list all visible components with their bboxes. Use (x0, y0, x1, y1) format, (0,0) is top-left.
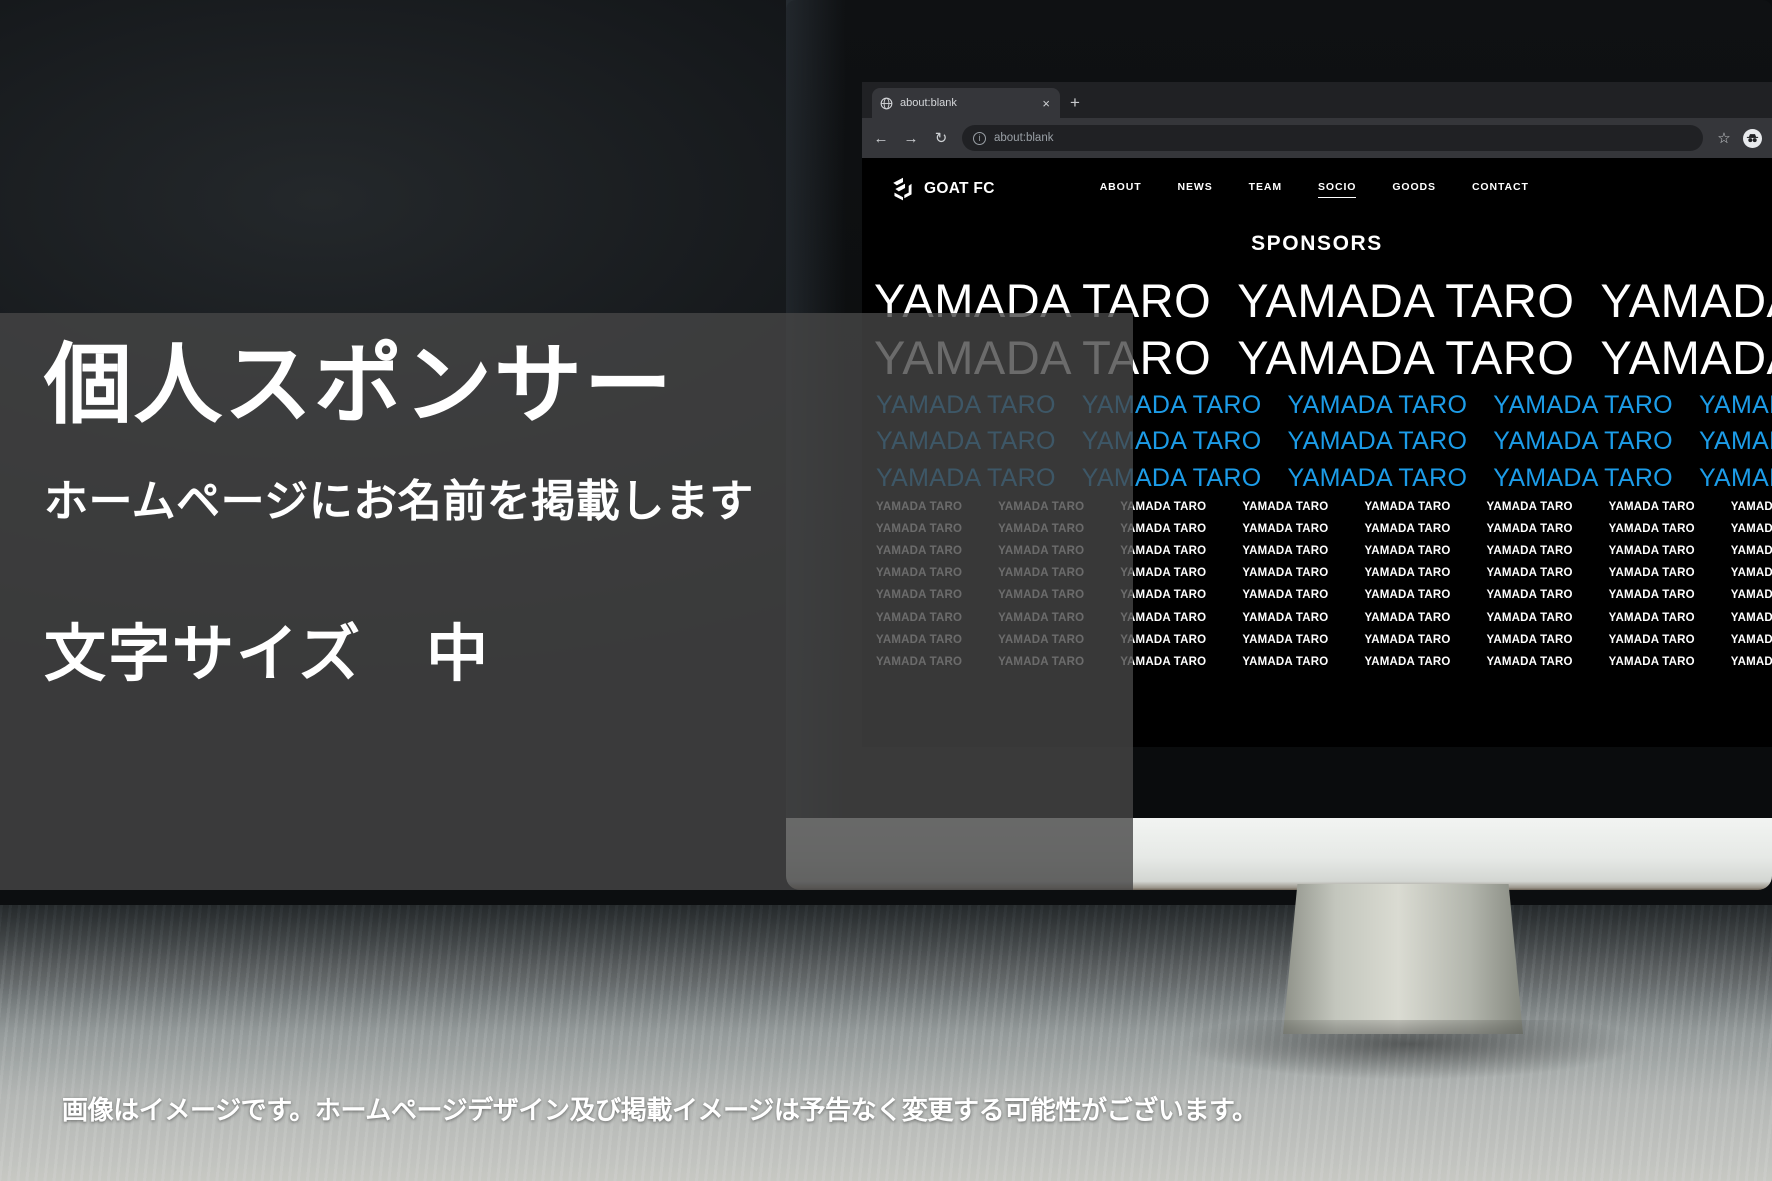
close-icon[interactable]: × (1040, 97, 1052, 110)
promo-subtitle: ホームページにお名前を掲載します (44, 465, 754, 529)
sponsor-name: YAMADA TARO (1609, 518, 1695, 540)
sponsor-name: YAMADA TARO (1493, 460, 1673, 497)
brand-logo[interactable]: GOAT FC (890, 176, 995, 202)
disclaimer-text: 画像はイメージです。ホームページデザイン及び掲載イメージは予告なく変更する可能性… (62, 1090, 1722, 1127)
sponsor-name: YAMADA TARO (1120, 496, 1206, 518)
sponsor-name: YAMADA TARO (1731, 584, 1772, 606)
sponsor-name: YAMADA TARO (1120, 629, 1206, 651)
nav-link-team[interactable]: TEAM (1249, 181, 1282, 198)
sponsor-name: YAMADA TARO (1242, 629, 1328, 651)
sponsor-name: YAMADA TARO (1731, 607, 1772, 629)
sponsor-name: YAMADA TARO (1487, 651, 1573, 673)
sponsor-name: YAMADA TARO (1493, 387, 1673, 424)
url-text: about:blank (994, 132, 1053, 144)
stand-shadow (1180, 1020, 1640, 1080)
sponsor-name: YAMADA TARO (1287, 387, 1467, 424)
sponsor-name: YAMADA TARO (1120, 651, 1206, 673)
sponsor-name: YAMADA TARO (1487, 540, 1573, 562)
site-info-icon[interactable]: i (973, 132, 986, 145)
sponsor-name: YAMADA TARO (1699, 387, 1772, 424)
sponsor-name: YAMADA TARO (1487, 562, 1573, 584)
toolbar-right-actions: ☆ (1715, 129, 1762, 148)
sponsor-name: YAMADA TARO (1120, 584, 1206, 606)
sponsor-name: YAMADA TARO (1120, 562, 1206, 584)
brand-name: GOAT FC (924, 180, 995, 198)
sponsor-name: YAMADA TARO (1242, 584, 1328, 606)
sponsor-name: YAMADA TARO (1364, 518, 1450, 540)
sponsor-name: YAMADA TARO (1120, 540, 1206, 562)
sponsor-name: YAMADA TARO (1609, 584, 1695, 606)
promo-text-size-label: 文字サイズ 中 (44, 603, 490, 693)
goat-fc-logo-icon (890, 176, 916, 202)
sponsor-name: YAMADA TARO (1493, 423, 1673, 460)
address-bar[interactable]: i about:blank (962, 125, 1703, 151)
sponsor-name: YAMADA TARO (1609, 496, 1695, 518)
browser-tab[interactable]: about:blank × (872, 88, 1060, 118)
sponsor-name: YAMADA TARO (1609, 629, 1695, 651)
nav-link-news[interactable]: NEWS (1178, 181, 1213, 198)
nav-link-socio[interactable]: SOCIO (1318, 181, 1356, 198)
browser-toolbar: ← → ↻ i about:blank ☆ (862, 118, 1772, 158)
sponsor-name: YAMADA TARO (1487, 496, 1573, 518)
sponsor-name: YAMADA TARO (1242, 562, 1328, 584)
sponsor-name: YAMADA TARO (1242, 651, 1328, 673)
sponsor-name: YAMADA TARO (1120, 518, 1206, 540)
sponsor-name: YAMADA TARO (1242, 496, 1328, 518)
incognito-avatar-icon[interactable] (1743, 129, 1762, 148)
sponsor-name: YAMADA TARO (1731, 540, 1772, 562)
sponsor-name: YAMADA TARO (1242, 518, 1328, 540)
sponsor-name: YAMADA TARO (1242, 540, 1328, 562)
promo-title: 個人スポンサー (44, 341, 674, 429)
sponsor-name: YAMADA TARO (1287, 460, 1467, 497)
sponsor-name: YAMADA TARO (1731, 496, 1772, 518)
sponsor-name: YAMADA TARO (1609, 651, 1695, 673)
sponsor-name: YAMADA TARO (1364, 540, 1450, 562)
sponsor-name: YAMADA TARO (1609, 540, 1695, 562)
reload-icon[interactable]: ↻ (932, 129, 950, 147)
promo-overlay-panel: 個人スポンサー ホームページにお名前を掲載します 文字サイズ 中 (0, 313, 1133, 890)
bookmark-star-icon[interactable]: ☆ (1715, 129, 1733, 147)
browser-tabstrip: about:blank × + (862, 82, 1772, 118)
back-icon[interactable]: ← (872, 130, 890, 147)
globe-icon (880, 97, 893, 110)
nav-link-about[interactable]: ABOUT (1100, 181, 1142, 198)
sponsor-name: YAMADA TARO (1600, 329, 1772, 386)
sponsor-name: YAMADA TARO (1699, 460, 1772, 497)
nav-link-contact[interactable]: CONTACT (1472, 181, 1529, 198)
sponsor-name: YAMADA TARO (1364, 607, 1450, 629)
sponsor-name: YAMADA TARO (1287, 423, 1467, 460)
sponsor-name: YAMADA TARO (1699, 423, 1772, 460)
sponsor-name: YAMADA TARO (1600, 272, 1772, 329)
sponsor-name: YAMADA TARO (1731, 518, 1772, 540)
sponsor-name: YAMADA TARO (1487, 518, 1573, 540)
forward-icon[interactable]: → (902, 130, 920, 147)
sponsor-name: YAMADA TARO (1364, 584, 1450, 606)
sponsor-name: YAMADA TARO (1364, 629, 1450, 651)
sponsor-name: YAMADA TARO (1237, 329, 1574, 386)
sponsors-section-title: SPONSORS (862, 232, 1772, 256)
site-nav-links: ABOUTNEWSTEAMSOCIOGOODSCONTACT (1100, 181, 1529, 198)
sponsor-name: YAMADA TARO (1120, 607, 1206, 629)
sponsor-name: YAMADA TARO (1731, 562, 1772, 584)
sponsor-name: YAMADA TARO (1237, 272, 1574, 329)
sponsor-name: YAMADA TARO (1487, 607, 1573, 629)
sponsor-name: YAMADA TARO (1609, 607, 1695, 629)
sponsor-name: YAMADA TARO (1731, 629, 1772, 651)
monitor-stand (1283, 884, 1523, 1034)
sponsor-name: YAMADA TARO (1242, 607, 1328, 629)
tab-title: about:blank (900, 97, 1033, 109)
sponsor-name: YAMADA TARO (1364, 651, 1450, 673)
new-tab-icon[interactable]: + (1070, 93, 1080, 113)
sponsor-name: YAMADA TARO (1487, 629, 1573, 651)
site-navbar: GOAT FC ABOUTNEWSTEAMSOCIOGOODSCONTACT (862, 158, 1772, 220)
sponsor-name: YAMADA TARO (1609, 562, 1695, 584)
sponsor-name: YAMADA TARO (1364, 496, 1450, 518)
sponsor-name: YAMADA TARO (1487, 584, 1573, 606)
sponsor-name: YAMADA TARO (1731, 651, 1772, 673)
sponsor-name: YAMADA TARO (1364, 562, 1450, 584)
nav-link-goods[interactable]: GOODS (1392, 181, 1436, 198)
